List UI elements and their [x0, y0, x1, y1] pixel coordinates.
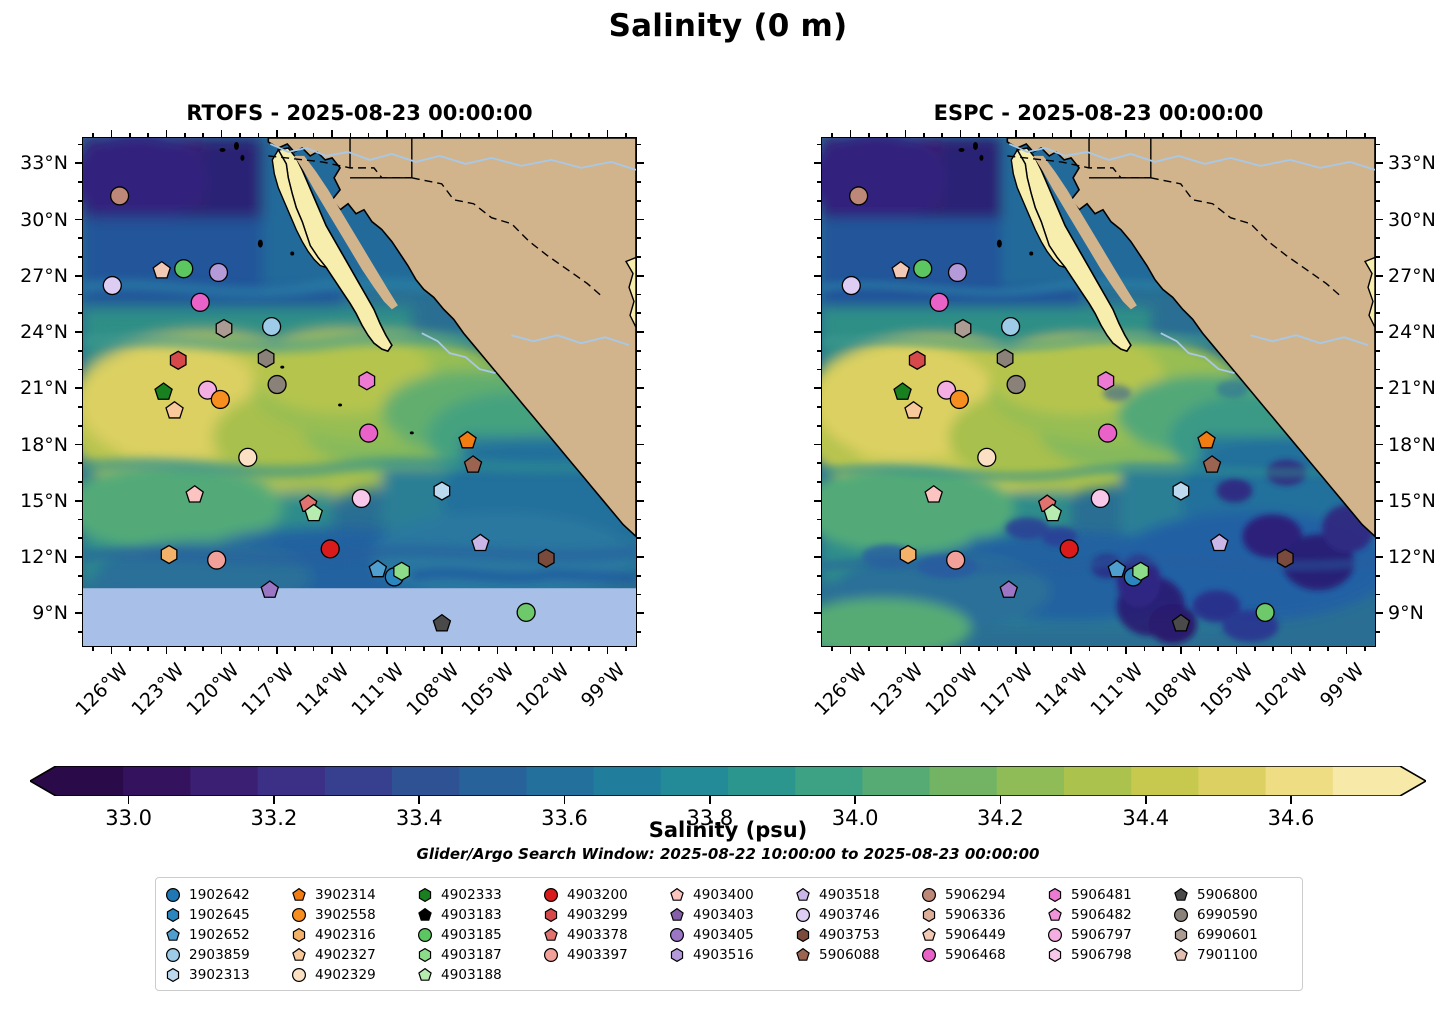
x-tick-label: 117°W — [237, 659, 298, 720]
argo-marker[interactable] — [900, 546, 916, 564]
argo-marker[interactable] — [268, 376, 286, 394]
x-minor-tick-top — [478, 133, 480, 137]
x-minor-tick-top — [239, 133, 241, 137]
y-tick-label: 18°N — [1388, 434, 1456, 456]
legend-item-label: 4902316 — [315, 927, 376, 943]
argo-marker[interactable] — [1173, 482, 1189, 500]
x-tick-top — [386, 130, 388, 137]
x-minor-tick — [570, 647, 572, 651]
map-espc[interactable] — [821, 137, 1376, 647]
argo-marker[interactable] — [434, 482, 450, 500]
legend-marker-icon — [920, 906, 938, 924]
x-minor-tick-top — [294, 133, 296, 137]
legend-marker-icon — [668, 906, 686, 924]
x-minor-tick-top — [258, 133, 260, 137]
y-minor-tick-right — [1376, 369, 1380, 371]
x-tick-top — [166, 130, 168, 137]
x-tick — [276, 647, 278, 654]
y-minor-tick-right — [637, 519, 641, 521]
legend-item[interactable]: 2903859 — [164, 945, 290, 965]
y-minor-tick-right — [637, 537, 641, 539]
colorbar-band — [930, 766, 998, 796]
x-tick-top — [441, 130, 443, 137]
y-minor-tick — [817, 350, 821, 352]
y-minor-tick — [817, 575, 821, 577]
y-minor-tick — [78, 519, 82, 521]
legend-marker-icon — [416, 906, 434, 924]
legend-item-label: 4903378 — [567, 927, 628, 943]
legend-marker-icon — [1172, 946, 1190, 964]
x-tick — [1236, 647, 1238, 654]
y-minor-tick-right — [1376, 294, 1380, 296]
y-tick-right — [637, 556, 644, 558]
argo-marker[interactable] — [239, 448, 257, 466]
legend-marker-icon — [794, 886, 812, 904]
colorbar-band — [123, 766, 191, 796]
y-minor-tick-right — [1376, 256, 1380, 258]
x-minor-tick — [1199, 647, 1201, 651]
colorbar-tick — [1290, 796, 1292, 804]
colorbar-band — [997, 766, 1065, 796]
colorbar-band — [459, 766, 527, 796]
y-tick-right — [637, 612, 644, 614]
legend-item[interactable]: 4902329 — [290, 965, 416, 985]
y-minor-tick — [817, 237, 821, 239]
y-tick-right — [1376, 387, 1383, 389]
legend-marker-icon — [1046, 886, 1064, 904]
colorbar[interactable]: 33.033.233.433.633.834.034.234.434.6 — [30, 766, 1426, 796]
legend-item[interactable]: 5906294 — [920, 885, 1046, 905]
colorbar-band — [1064, 766, 1132, 796]
legend-marker-icon — [794, 946, 812, 964]
x-minor-tick — [1364, 647, 1366, 651]
x-minor-tick — [1052, 647, 1054, 651]
legend-marker-icon — [164, 886, 182, 904]
legend-item-label: 4902329 — [315, 967, 376, 983]
legend-item[interactable]: 5906798 — [1046, 945, 1172, 965]
y-tick-label: 12°N — [6, 546, 68, 568]
y-minor-tick-right — [637, 575, 641, 577]
x-minor-tick-top — [313, 133, 315, 137]
argo-marker[interactable] — [191, 293, 209, 311]
x-tick-top — [1291, 130, 1293, 137]
x-minor-tick — [1327, 647, 1329, 651]
legend-column: 39023143902558490231649023274902329 — [290, 885, 416, 986]
y-minor-tick-right — [1376, 350, 1380, 352]
argo-marker[interactable] — [175, 260, 193, 278]
argo-marker[interactable] — [947, 551, 965, 569]
legend-marker-icon — [164, 926, 182, 944]
x-minor-tick — [202, 647, 204, 651]
x-tick — [441, 647, 443, 654]
legend-item-label: 4903188 — [441, 967, 502, 983]
legend-column: 5906481590648259067975906798 — [1046, 885, 1172, 986]
colorbar-band — [325, 766, 393, 796]
x-tick-top — [331, 130, 333, 137]
argo-marker[interactable] — [258, 349, 274, 367]
legend-item[interactable]: 4903400 — [668, 885, 794, 905]
x-minor-tick — [831, 647, 833, 651]
legend-item[interactable]: 6990590 — [1172, 905, 1298, 925]
x-minor-tick — [1162, 647, 1164, 651]
y-minor-tick-right — [637, 369, 641, 371]
y-tick-right — [1376, 219, 1383, 221]
x-minor-tick — [588, 647, 590, 651]
x-tick — [552, 647, 554, 654]
x-tick-label: 108°W — [403, 659, 464, 720]
x-minor-tick-top — [1033, 133, 1035, 137]
colorbar-band — [1198, 766, 1266, 796]
legend-item[interactable]: 5906449 — [920, 925, 1046, 945]
legend-item[interactable]: 4903200 — [542, 885, 668, 905]
search-window-caption: Glider/Argo Search Window: 2025-08-22 10… — [0, 845, 1456, 863]
x-minor-tick-top — [533, 133, 535, 137]
argo-marker[interactable] — [517, 603, 535, 621]
y-tick-label: 18°N — [6, 434, 68, 456]
legend-item-label: 4903516 — [693, 947, 754, 963]
map-rtofs[interactable] — [82, 137, 637, 647]
legend-item[interactable]: 4903378 — [542, 925, 668, 945]
legend-column: 49023334903183490318549031874903188 — [416, 885, 542, 986]
argo-marker[interactable] — [360, 424, 378, 442]
y-tick-label: 15°N — [1388, 490, 1456, 512]
figure-title: Salinity (0 m) — [0, 8, 1456, 44]
legend-item-label: 4903746 — [819, 907, 880, 923]
y-tick-right — [637, 275, 644, 277]
x-minor-tick — [941, 647, 943, 651]
argo-marker[interactable] — [978, 448, 996, 466]
x-minor-tick-top — [941, 133, 943, 137]
x-tick — [607, 647, 609, 654]
legend-item-label: 5906800 — [1197, 887, 1258, 903]
x-minor-tick — [350, 647, 352, 651]
x-tick — [497, 647, 499, 654]
legend-item[interactable]: 7901100 — [1172, 945, 1298, 965]
legend-marker-icon — [290, 886, 308, 904]
y-minor-tick-right — [637, 256, 641, 258]
argo-marker[interactable] — [949, 264, 967, 282]
argo-marker[interactable] — [930, 293, 948, 311]
y-tick-label: 24°N — [1388, 321, 1456, 343]
argo-marker[interactable] — [1278, 549, 1294, 567]
legend-marker-icon — [542, 906, 560, 924]
argo-marker[interactable] — [842, 277, 860, 295]
argo-marker[interactable] — [352, 489, 370, 507]
y-minor-tick-right — [1376, 481, 1380, 483]
y-minor-tick — [817, 294, 821, 296]
legend-marker-icon — [290, 906, 308, 924]
legend-item[interactable]: 1902645 — [164, 905, 290, 925]
legend-item-label: 5906449 — [945, 927, 1006, 943]
argo-marker[interactable] — [850, 187, 868, 205]
x-minor-tick-top — [997, 133, 999, 137]
argo-marker[interactable] — [359, 372, 375, 390]
x-tick — [1070, 647, 1072, 654]
y-tick — [814, 219, 821, 221]
x-tick-label: 126°W — [72, 659, 133, 720]
argo-marker[interactable] — [103, 277, 121, 295]
x-tick-top — [1015, 130, 1017, 137]
legend-item[interactable]: 3902558 — [290, 905, 416, 925]
x-tick — [850, 647, 852, 654]
y-tick-right — [1376, 444, 1383, 446]
argo-marker[interactable] — [909, 351, 925, 369]
legend-item[interactable]: 3902313 — [164, 965, 290, 985]
legend-item-label: 3902558 — [315, 907, 376, 923]
x-minor-tick — [92, 647, 94, 651]
x-tick-top — [1236, 130, 1238, 137]
y-tick-right — [637, 162, 644, 164]
colorbar-band — [526, 766, 594, 796]
legend-column: 5906800699059069906017901100 — [1172, 885, 1298, 986]
argo-marker[interactable] — [208, 551, 226, 569]
x-tick — [1346, 647, 1348, 654]
legend-item[interactable]: 4902316 — [290, 925, 416, 945]
y-minor-tick — [817, 312, 821, 314]
legend-item[interactable]: 5906800 — [1172, 885, 1298, 905]
panel-espc: ESPC - 2025-08-23 00:00:00 — [821, 137, 1376, 647]
legend-item-label: 5906482 — [1071, 907, 1132, 923]
legend-item[interactable]: 4903188 — [416, 965, 542, 985]
x-tick-label: 111°W — [347, 659, 408, 720]
x-minor-tick — [129, 647, 131, 651]
y-tick-label: 33°N — [1388, 152, 1456, 174]
argo-marker[interactable] — [1091, 489, 1109, 507]
x-tick-top — [221, 130, 223, 137]
legend-marker-icon — [920, 946, 938, 964]
y-minor-tick — [78, 181, 82, 183]
y-tick-right — [1376, 275, 1383, 277]
y-tick — [75, 612, 82, 614]
argo-marker[interactable] — [263, 318, 281, 336]
argo-marker[interactable] — [1133, 562, 1149, 580]
legend-item[interactable]: 5906481 — [1046, 885, 1172, 905]
x-tick-top — [850, 130, 852, 137]
argo-marker[interactable] — [321, 540, 339, 558]
x-minor-tick-top — [868, 133, 870, 137]
y-minor-tick — [817, 425, 821, 427]
colorbar-band — [56, 766, 124, 796]
legend-item-label: 4903183 — [441, 907, 502, 923]
x-tick-top — [607, 130, 609, 137]
x-minor-tick-top — [625, 133, 627, 137]
legend-item[interactable]: 6990601 — [1172, 925, 1298, 945]
y-minor-tick-right — [637, 425, 641, 427]
x-tick-top — [552, 130, 554, 137]
y-minor-tick-right — [1376, 425, 1380, 427]
argo-marker[interactable] — [216, 320, 232, 338]
legend-item[interactable]: 4903753 — [794, 925, 920, 945]
y-tick-right — [1376, 612, 1383, 614]
legend-item-label: 4903405 — [693, 927, 754, 943]
x-tick-label: 123°W — [127, 659, 188, 720]
argo-marker[interactable] — [211, 391, 229, 409]
argo-marker[interactable] — [1098, 372, 1114, 390]
x-minor-tick — [368, 647, 370, 651]
legend-item[interactable]: 4903187 — [416, 945, 542, 965]
y-tick-right — [1376, 500, 1383, 502]
colorbar-extend-max — [1400, 766, 1426, 796]
legend-item[interactable]: 5906336 — [920, 905, 1046, 925]
legend-item[interactable]: 5906088 — [794, 945, 920, 965]
y-minor-tick — [817, 144, 821, 146]
x-minor-tick-top — [184, 133, 186, 137]
x-minor-tick-top — [460, 133, 462, 137]
colorbar-band — [392, 766, 460, 796]
y-minor-tick-right — [1376, 462, 1380, 464]
colorbar-band — [1131, 766, 1199, 796]
legend-item-label: 5906468 — [945, 947, 1006, 963]
argo-marker[interactable] — [1007, 376, 1025, 394]
legend-marker-icon — [164, 946, 182, 964]
legend-marker-icon — [164, 966, 182, 984]
argo-marker[interactable] — [997, 349, 1013, 367]
y-tick — [75, 556, 82, 558]
colorbar-band — [258, 766, 326, 796]
y-minor-tick-right — [637, 631, 641, 633]
x-minor-tick-top — [1309, 133, 1311, 137]
panel-rtofs-title: RTOFS - 2025-08-23 00:00:00 — [82, 101, 637, 125]
y-minor-tick-right — [637, 462, 641, 464]
legend-item[interactable]: 4903185 — [416, 925, 542, 945]
argo-marker[interactable] — [1099, 424, 1117, 442]
legend-item-label: 4902327 — [315, 947, 376, 963]
argo-marker[interactable] — [950, 391, 968, 409]
argo-marker[interactable] — [539, 549, 555, 567]
argo-marker[interactable] — [394, 562, 410, 580]
argo-marker[interactable] — [914, 260, 932, 278]
x-minor-tick — [997, 647, 999, 651]
x-minor-tick-top — [831, 133, 833, 137]
panel-espc-title: ESPC - 2025-08-23 00:00:00 — [821, 101, 1376, 125]
y-tick-label: 12°N — [1388, 546, 1456, 568]
legend-marker-icon — [290, 926, 308, 944]
legend-item-label: 1902642 — [189, 887, 250, 903]
legend-item[interactable]: 3902314 — [290, 885, 416, 905]
x-minor-tick — [1033, 647, 1035, 651]
argo-marker[interactable] — [111, 187, 129, 205]
legend-item[interactable]: 5906468 — [920, 945, 1046, 965]
y-tick-label: 9°N — [6, 602, 68, 624]
legend-marker-icon — [416, 966, 434, 984]
y-tick-label: 21°N — [6, 377, 68, 399]
map-espc-canvas — [822, 138, 1375, 646]
y-tick-right — [1376, 556, 1383, 558]
x-tick — [386, 647, 388, 654]
y-minor-tick-right — [637, 594, 641, 596]
colorbar-tick — [564, 796, 566, 804]
colorbar-gradient — [30, 766, 1426, 796]
y-minor-tick — [78, 144, 82, 146]
x-tick — [1125, 647, 1127, 654]
legend-item[interactable]: 5906482 — [1046, 905, 1172, 925]
argo-marker[interactable] — [955, 320, 971, 338]
legend-item[interactable]: 4903183 — [416, 905, 542, 925]
legend-item[interactable]: 4903299 — [542, 905, 668, 925]
x-tick-label: 99°W — [576, 659, 629, 712]
y-minor-tick-right — [637, 406, 641, 408]
legend-item[interactable]: 4902327 — [290, 945, 416, 965]
y-minor-tick — [78, 350, 82, 352]
colorbar-band — [728, 766, 796, 796]
legend-item[interactable]: 1902642 — [164, 885, 290, 905]
colorbar-tick — [128, 796, 130, 804]
legend-item[interactable]: 4903397 — [542, 945, 668, 965]
argo-marker[interactable] — [1002, 318, 1020, 336]
y-minor-tick — [817, 200, 821, 202]
legend-item[interactable]: 4902333 — [416, 885, 542, 905]
y-tick — [814, 444, 821, 446]
y-minor-tick-right — [637, 200, 641, 202]
x-minor-tick-top — [147, 133, 149, 137]
x-minor-tick — [239, 647, 241, 651]
y-tick-right — [637, 444, 644, 446]
legend-item[interactable]: 4903405 — [668, 925, 794, 945]
argo-marker[interactable] — [1256, 603, 1274, 621]
legend-marker-icon — [1046, 946, 1064, 964]
x-tick-label: 117°W — [976, 659, 1037, 720]
argo-legend[interactable]: 1902642190264519026522903859390231339023… — [155, 877, 1303, 991]
y-minor-tick — [817, 406, 821, 408]
y-tick-right — [637, 387, 644, 389]
x-minor-tick-top — [1089, 133, 1091, 137]
legend-item[interactable]: 4903518 — [794, 885, 920, 905]
x-minor-tick — [478, 647, 480, 651]
argo-marker[interactable] — [170, 351, 186, 369]
x-minor-tick-top — [92, 133, 94, 137]
legend-column: 5906294590633659064495906468 — [920, 885, 1046, 986]
x-minor-tick — [1089, 647, 1091, 651]
argo-marker[interactable] — [1060, 540, 1078, 558]
legend-item-label: 4903200 — [567, 887, 628, 903]
y-minor-tick-right — [637, 294, 641, 296]
colorbar-band — [1333, 766, 1401, 796]
y-minor-tick — [78, 369, 82, 371]
y-tick — [75, 500, 82, 502]
legend-marker-icon — [668, 926, 686, 944]
x-minor-tick-top — [1162, 133, 1164, 137]
x-tick-label: 120°W — [182, 659, 243, 720]
colorbar-band — [1266, 766, 1334, 796]
argo-marker[interactable] — [210, 264, 228, 282]
x-minor-tick — [460, 647, 462, 651]
x-minor-tick-top — [1254, 133, 1256, 137]
colorbar-tick — [1000, 796, 1002, 804]
y-tick-label: 27°N — [6, 265, 68, 287]
y-minor-tick — [78, 631, 82, 633]
colorbar-tick — [418, 796, 420, 804]
x-minor-tick-top — [1052, 133, 1054, 137]
x-tick-top — [276, 130, 278, 137]
y-tick — [75, 331, 82, 333]
x-tick-top — [1180, 130, 1182, 137]
legend-grid: 1902642190264519026522903859390231339023… — [164, 885, 1298, 986]
legend-item[interactable]: 5906797 — [1046, 925, 1172, 945]
legend-item[interactable]: 4903516 — [668, 945, 794, 965]
legend-item[interactable]: 4903746 — [794, 905, 920, 925]
legend-column: 4903518490374649037535906088 — [794, 885, 920, 986]
x-tick — [331, 647, 333, 654]
legend-item[interactable]: 4903403 — [668, 905, 794, 925]
legend-marker-icon — [920, 886, 938, 904]
argo-marker[interactable] — [161, 546, 177, 564]
y-minor-tick-right — [637, 481, 641, 483]
y-minor-tick — [817, 519, 821, 521]
legend-item[interactable]: 1902652 — [164, 925, 290, 945]
legend-item-label: 4903400 — [693, 887, 754, 903]
y-minor-tick-right — [637, 181, 641, 183]
legend-item-label: 6990601 — [1197, 927, 1258, 943]
